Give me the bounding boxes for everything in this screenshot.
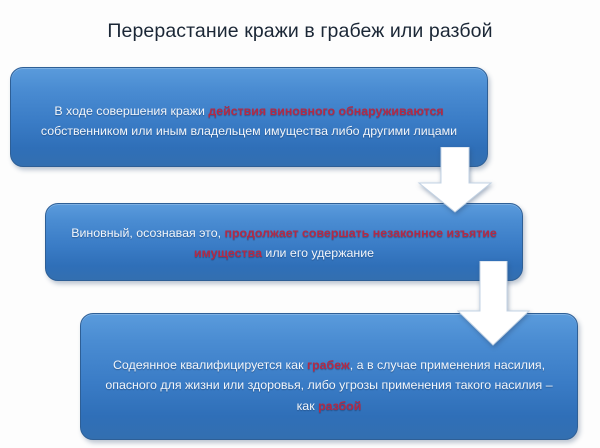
- highlighted-term: разбой: [318, 399, 361, 413]
- plain-text-run: В ходе совершения кражи: [54, 104, 208, 118]
- highlighted-term: действия виновного обнаруживаются: [208, 104, 443, 118]
- plain-text-run: Виновный, осознавая это,: [71, 226, 224, 240]
- diagram-canvas: Перерастание кражи в грабеж или разбой В…: [0, 0, 600, 448]
- plain-text-run: собственником или иным владельцем имущес…: [41, 124, 457, 138]
- plain-text-run: или его удержание: [262, 246, 374, 260]
- highlighted-term: грабеж: [307, 358, 350, 372]
- arrow-down-icon: [457, 261, 531, 346]
- arrow-down-icon: [417, 147, 493, 213]
- flow-step-2-text: Виновный, осознавая это, продолжает сове…: [46, 223, 522, 263]
- flow-step-3-text: Содеянное квалифицируется как грабеж, а …: [81, 355, 577, 415]
- flow-step-1-text: В ходе совершения кражи действия виновно…: [11, 101, 487, 141]
- flow-step-2-box: Виновный, осознавая это, продолжает сове…: [45, 203, 523, 281]
- plain-text-run: Содеянное квалифицируется как: [113, 358, 307, 372]
- diagram-title: Перерастание кражи в грабеж или разбой: [0, 20, 600, 43]
